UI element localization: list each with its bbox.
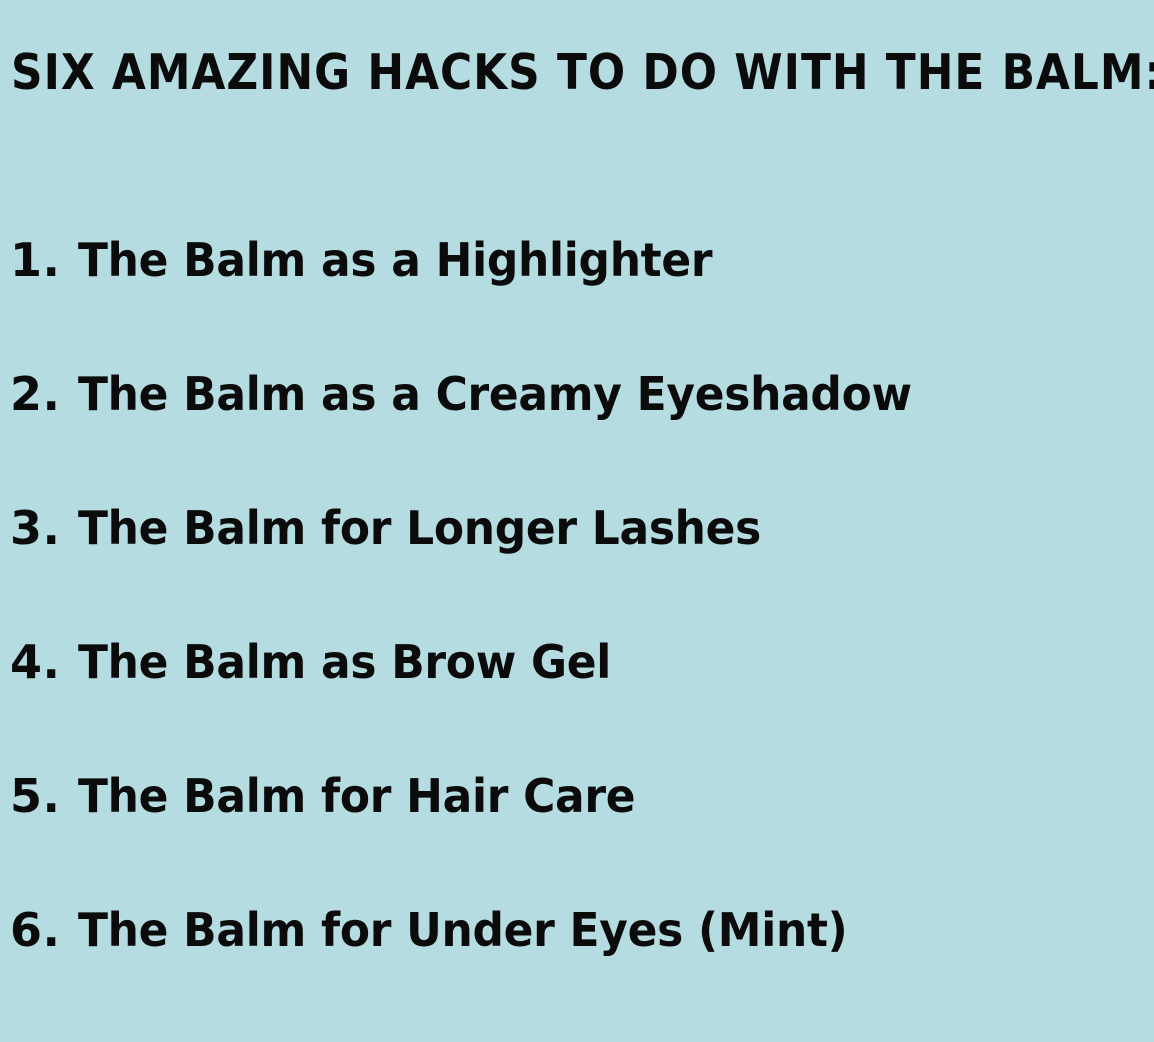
list-item: 3. The Balm for Longer Lashes	[0, 484, 1154, 618]
list-item: 5. The Balm for Hair Care	[0, 752, 1154, 886]
list-item: 4. The Balm as Brow Gel	[0, 618, 1154, 752]
list-item-index: 2.	[10, 365, 78, 423]
list-item-line: 1. The Balm as a Highlighter	[10, 231, 742, 289]
list-item-label: The Balm as Brow Gel	[78, 633, 611, 691]
list-item-label: The Balm as a Creamy Eyeshadow	[78, 365, 912, 423]
list-item-line: 6. The Balm for Under Eyes (Mint)	[10, 901, 884, 959]
list-item: 1. The Balm as a Highlighter	[0, 216, 1154, 350]
list-item-index: 4.	[10, 633, 78, 691]
hacks-list: 1. The Balm as a Highlighter 2. The Balm…	[0, 216, 1154, 1020]
list-item: 6. The Balm for Under Eyes (Mint)	[0, 886, 1154, 1020]
list-item: 2. The Balm as a Creamy Eyeshadow	[0, 350, 1154, 484]
list-item-index: 6.	[10, 901, 78, 959]
list-item-line: 4. The Balm as Brow Gel	[10, 633, 636, 691]
list-item-label: The Balm as a Highlighter	[78, 231, 712, 289]
list-item-label: The Balm for Under Eyes (Mint)	[78, 901, 847, 959]
list-item-index: 1.	[10, 231, 78, 289]
list-item-index: 3.	[10, 499, 78, 557]
list-item-line: 5. The Balm for Hair Care	[10, 767, 662, 825]
title-block: SIX AMAZING HACKS TO DO WITH THE BALM:	[0, 0, 1154, 140]
list-item-line: 2. The Balm as a Creamy Eyeshadow	[10, 365, 951, 423]
list-item-label: The Balm for Hair Care	[78, 767, 635, 825]
list-item-line: 3. The Balm for Longer Lashes	[10, 499, 793, 557]
poster-canvas: SIX AMAZING HACKS TO DO WITH THE BALM: 1…	[0, 0, 1154, 1042]
list-item-index: 5.	[10, 767, 78, 825]
list-item-label: The Balm for Longer Lashes	[78, 499, 761, 557]
page-title: SIX AMAZING HACKS TO DO WITH THE BALM:	[11, 44, 1024, 102]
